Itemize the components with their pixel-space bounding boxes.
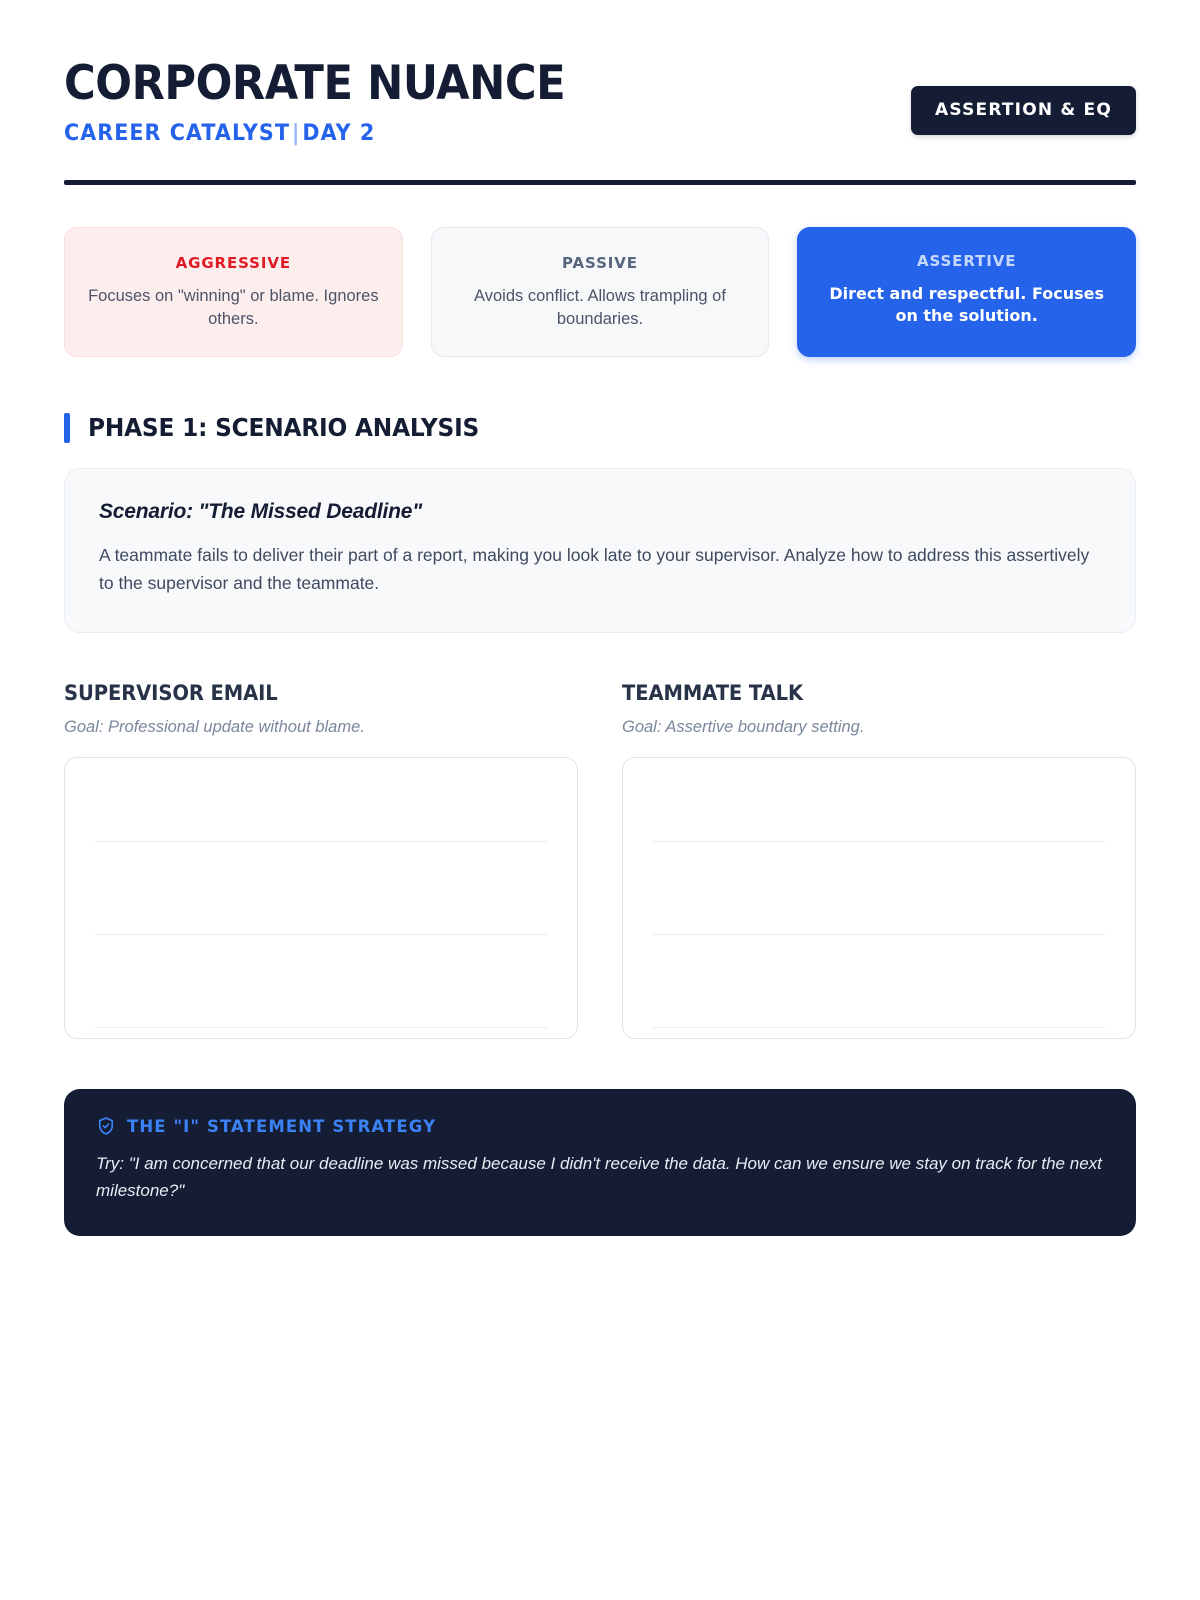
scenario-card: Scenario: "The Missed Deadline" A teamma… xyxy=(64,468,1136,634)
ruled-line xyxy=(95,1027,547,1028)
response-title: SUPERVISOR EMAIL xyxy=(64,681,542,705)
response-block-teammate-talk: TEAMMATE TALK Goal: Assertive boundary s… xyxy=(622,681,1136,1039)
style-card-title: AGGRESSIVE xyxy=(87,254,380,272)
strategy-tip-body: Try: "I am concerned that our deadline w… xyxy=(96,1151,1102,1205)
subtitle-day: DAY 2 xyxy=(302,121,375,146)
response-goal: Goal: Professional update without blame. xyxy=(64,718,578,737)
ruled-line xyxy=(95,841,547,842)
style-card-passive: PASSIVE Avoids conflict. Allows tramplin… xyxy=(431,227,770,357)
subtitle-divider: | xyxy=(290,121,302,146)
ruled-line xyxy=(653,841,1105,842)
teammate-talk-input[interactable] xyxy=(622,757,1136,1039)
strategy-tip-header: THE "I" STATEMENT STRATEGY xyxy=(96,1116,1102,1136)
response-areas: SUPERVISOR EMAIL Goal: Professional upda… xyxy=(64,681,1136,1039)
page-title: CORPORATE NUANCE xyxy=(64,60,565,108)
phase-heading: PHASE 1: SCENARIO ANALYSIS xyxy=(64,413,1136,443)
phase-accent-bar xyxy=(64,413,70,443)
strategy-tip-box: THE "I" STATEMENT STRATEGY Try: "I am co… xyxy=(64,1089,1136,1236)
supervisor-email-input[interactable] xyxy=(64,757,578,1039)
ruled-line xyxy=(653,934,1105,935)
shield-check-icon xyxy=(96,1116,116,1136)
style-card-assertive: ASSERTIVE Direct and respectful. Focuses… xyxy=(797,227,1136,357)
strategy-tip-title: THE "I" STATEMENT STRATEGY xyxy=(127,1117,436,1136)
header-title-block: CORPORATE NUANCE CAREER CATALYST|DAY 2 xyxy=(64,58,609,146)
ruled-line xyxy=(653,1027,1105,1028)
header-divider xyxy=(64,180,1136,185)
page-header: CORPORATE NUANCE CAREER CATALYST|DAY 2 A… xyxy=(64,58,1136,146)
style-card-description: Avoids conflict. Allows trampling of bou… xyxy=(454,285,747,332)
response-title: TEAMMATE TALK xyxy=(622,681,1100,705)
page-subtitle: CAREER CATALYST|DAY 2 xyxy=(64,121,576,146)
ruled-line xyxy=(95,934,547,935)
style-card-title: ASSERTIVE xyxy=(820,252,1113,270)
topic-badge: ASSERTION & EQ xyxy=(911,86,1136,135)
style-card-description: Focuses on "winning" or blame. Ignores o… xyxy=(87,285,380,332)
response-goal: Goal: Assertive boundary setting. xyxy=(622,718,1136,737)
phase-heading-label: PHASE 1: SCENARIO ANALYSIS xyxy=(88,413,479,442)
communication-style-cards: AGGRESSIVE Focuses on "winning" or blame… xyxy=(64,227,1136,357)
style-card-aggressive: AGGRESSIVE Focuses on "winning" or blame… xyxy=(64,227,403,357)
response-block-supervisor-email: SUPERVISOR EMAIL Goal: Professional upda… xyxy=(64,681,578,1039)
scenario-body: A teammate fails to deliver their part o… xyxy=(99,541,1101,598)
style-card-description: Direct and respectful. Focuses on the so… xyxy=(820,283,1113,327)
subtitle-program: CAREER CATALYST xyxy=(64,121,290,146)
worksheet-page: CORPORATE NUANCE CAREER CATALYST|DAY 2 A… xyxy=(0,0,1200,1600)
style-card-title: PASSIVE xyxy=(454,254,747,272)
scenario-title: Scenario: "The Missed Deadline" xyxy=(99,500,1101,524)
